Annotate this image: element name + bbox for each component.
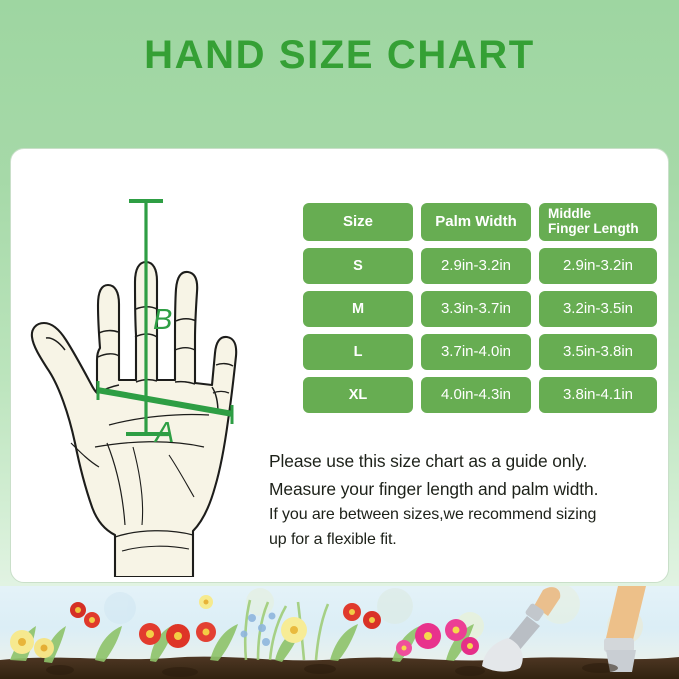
hand-measurement-diagram: B A xyxy=(19,185,291,577)
garden-flowers-photo xyxy=(0,586,679,679)
cell-size: L xyxy=(303,334,413,370)
content-card: B A Size Palm Width Middle Fi xyxy=(10,148,669,583)
header-middle-finger-length: Middle Finger Length xyxy=(539,203,657,241)
size-table: Size Palm Width Middle Finger Length S 2… xyxy=(303,203,663,420)
measure-b-label: B xyxy=(153,304,172,336)
cell-middle-finger-length: 3.2in-3.5in xyxy=(539,291,657,327)
hand-outline-group xyxy=(32,262,236,577)
header-middle-finger-length-line2: Finger Length xyxy=(548,222,639,237)
hand-size-chart-page: HAND SIZE CHART xyxy=(0,0,679,679)
note-line-3: If you are between sizes,we recommend si… xyxy=(269,503,669,527)
cell-palm-width: 4.0in-4.3in xyxy=(421,377,531,413)
header-size: Size xyxy=(303,203,413,241)
cell-size: XL xyxy=(303,377,413,413)
sizing-notes: Please use this size chart as a guide on… xyxy=(269,447,669,552)
measure-a-label: A xyxy=(153,417,174,449)
note-line-4: up for a flexible fit. xyxy=(269,528,669,552)
header-palm-width: Palm Width xyxy=(421,203,531,241)
table-row: M 3.3in-3.7in 3.2in-3.5in xyxy=(303,291,663,327)
shovel-ferrule xyxy=(604,638,634,652)
table-row: S 2.9in-3.2in 2.9in-3.2in xyxy=(303,248,663,284)
cell-palm-width: 2.9in-3.2in xyxy=(421,248,531,284)
page-title: HAND SIZE CHART xyxy=(0,33,679,78)
table-row: XL 4.0in-4.3in 3.8in-4.1in xyxy=(303,377,663,413)
cell-size: S xyxy=(303,248,413,284)
note-line-2: Measure your finger length and palm widt… xyxy=(269,475,669,503)
cell-middle-finger-length: 3.5in-3.8in xyxy=(539,334,657,370)
cell-palm-width: 3.3in-3.7in xyxy=(421,291,531,327)
note-line-1: Please use this size chart as a guide on… xyxy=(269,447,669,475)
header-middle-finger-length-line1: Middle xyxy=(548,207,639,222)
cell-middle-finger-length: 3.8in-4.1in xyxy=(539,377,657,413)
cell-size: M xyxy=(303,291,413,327)
cell-middle-finger-length: 2.9in-3.2in xyxy=(539,248,657,284)
cell-palm-width: 3.7in-4.0in xyxy=(421,334,531,370)
table-header-row: Size Palm Width Middle Finger Length xyxy=(303,203,663,241)
table-row: L 3.7in-4.0in 3.5in-3.8in xyxy=(303,334,663,370)
